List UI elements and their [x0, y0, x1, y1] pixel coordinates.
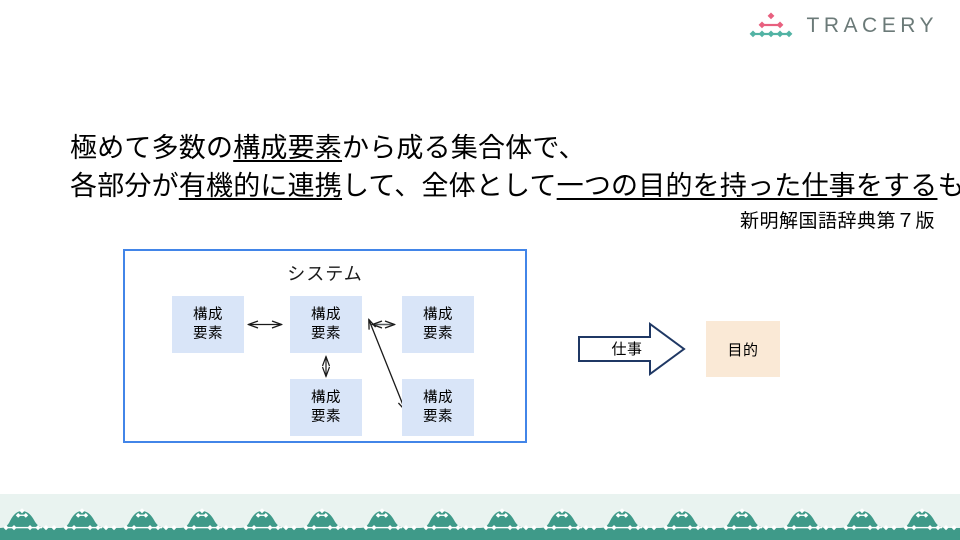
- quote-l2-seg-4: もの: [937, 171, 960, 201]
- definition-quote: 極めて多数の構成要素から成る集合体で、 各部分が有機的に連携して、全体として一つ…: [70, 129, 950, 205]
- tracery-node-triangle-icon: [748, 12, 794, 39]
- quote-l1-seg-0: 極めて多数の: [70, 133, 233, 163]
- slide-canvas: TRACERY 極めて多数の構成要素から成る集合体で、 各部分が有機的に連携して…: [0, 0, 960, 540]
- component-node-center: 構成 要素: [290, 296, 362, 353]
- quote-citation: 新明解国語辞典第７版: [740, 206, 935, 233]
- quote-l2-seg-2: して、全体として: [342, 171, 557, 201]
- goal-box: 目的: [706, 321, 780, 377]
- quote-l2-seg-3: 一つの目的を持った仕事をする: [557, 171, 938, 201]
- component-node-left: 構成 要素: [172, 296, 244, 353]
- component-node-bottom-right: 構成 要素: [402, 379, 474, 436]
- node-label-line1: 構成: [311, 306, 341, 325]
- node-label-line2: 要素: [193, 325, 223, 344]
- node-label-line2: 要素: [423, 325, 453, 344]
- brand-logo: TRACERY: [748, 12, 938, 39]
- quote-line-2: 各部分が有機的に連携して、全体として一つの目的を持った仕事をするもの: [70, 167, 950, 205]
- goal-label: 目的: [727, 339, 758, 360]
- quote-l2-seg-1: 有機的に連携: [179, 171, 342, 201]
- quote-l1-seg-2: から成る集合体で、: [342, 133, 586, 163]
- node-label-line2: 要素: [311, 325, 341, 344]
- node-label-line1: 構成: [423, 389, 453, 408]
- quote-l2-seg-0: 各部分が: [70, 171, 179, 201]
- node-label-line2: 要素: [311, 408, 341, 427]
- node-label-line1: 構成: [311, 389, 341, 408]
- brand-wordmark: TRACERY: [807, 15, 938, 36]
- footer-decoration: [0, 494, 960, 540]
- quote-line-1: 極めて多数の構成要素から成る集合体で、: [70, 129, 950, 167]
- component-node-right: 構成 要素: [402, 296, 474, 353]
- node-label-line1: 構成: [423, 306, 453, 325]
- work-arrow-label: 仕事: [596, 338, 658, 359]
- component-node-bottom-center: 構成 要素: [290, 379, 362, 436]
- node-label-line1: 構成: [193, 306, 223, 325]
- quote-l1-seg-1: 構成要素: [233, 133, 342, 163]
- system-title: システム: [125, 260, 525, 286]
- diamond-cluster-zigzag-icon: [0, 506, 960, 540]
- node-label-line2: 要素: [423, 408, 453, 427]
